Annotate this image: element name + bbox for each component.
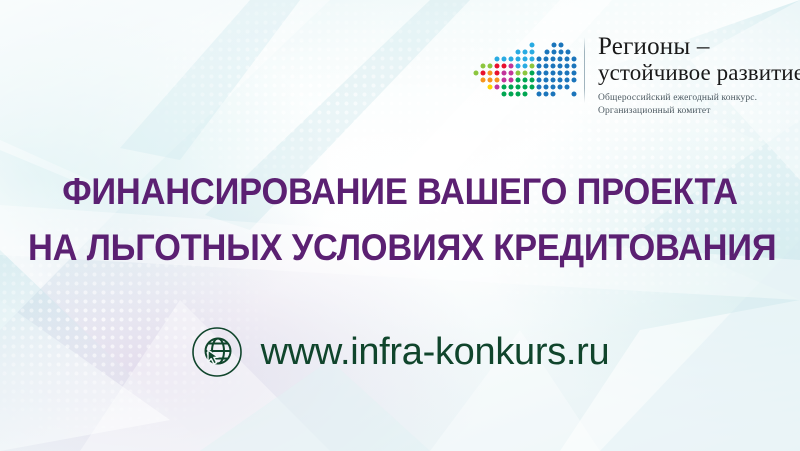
website-row[interactable]: www.infra-konkurs.ru [0, 326, 800, 378]
globe-cursor-icon [191, 326, 243, 378]
brand-logo: Регионы – устойчивое развитие Общероссий… [468, 34, 780, 114]
headline-line-1: ФИНАНСИРОВАНИЕ ВАШЕГО ПРОЕКТА [28, 164, 772, 220]
logo-tagline-line-2: Организационный комитет [598, 105, 800, 118]
promo-banner: Регионы – устойчивое развитие Общероссий… [0, 0, 800, 451]
logo-text-block: Регионы – устойчивое развитие Общероссий… [598, 34, 800, 117]
website-url[interactable]: www.infra-konkurs.ru [261, 327, 610, 377]
logo-tagline: Общероссийский ежегодный конкурс. Органи… [598, 92, 800, 117]
russia-dot-map-icon [468, 38, 578, 108]
headline-line-2: НА ЛЬГОТНЫХ УСЛОВИЯХ КРЕДИТОВАНИЯ [28, 220, 772, 276]
logo-tagline-line-1: Общероссийский ежегодный конкурс. [598, 92, 800, 105]
logo-divider [584, 37, 585, 103]
logo-subtitle: устойчивое развитие [598, 60, 800, 86]
headline: ФИНАНСИРОВАНИЕ ВАШЕГО ПРОЕКТА НА ЛЬГОТНЫ… [0, 164, 800, 276]
logo-title: Регионы – [598, 34, 800, 60]
